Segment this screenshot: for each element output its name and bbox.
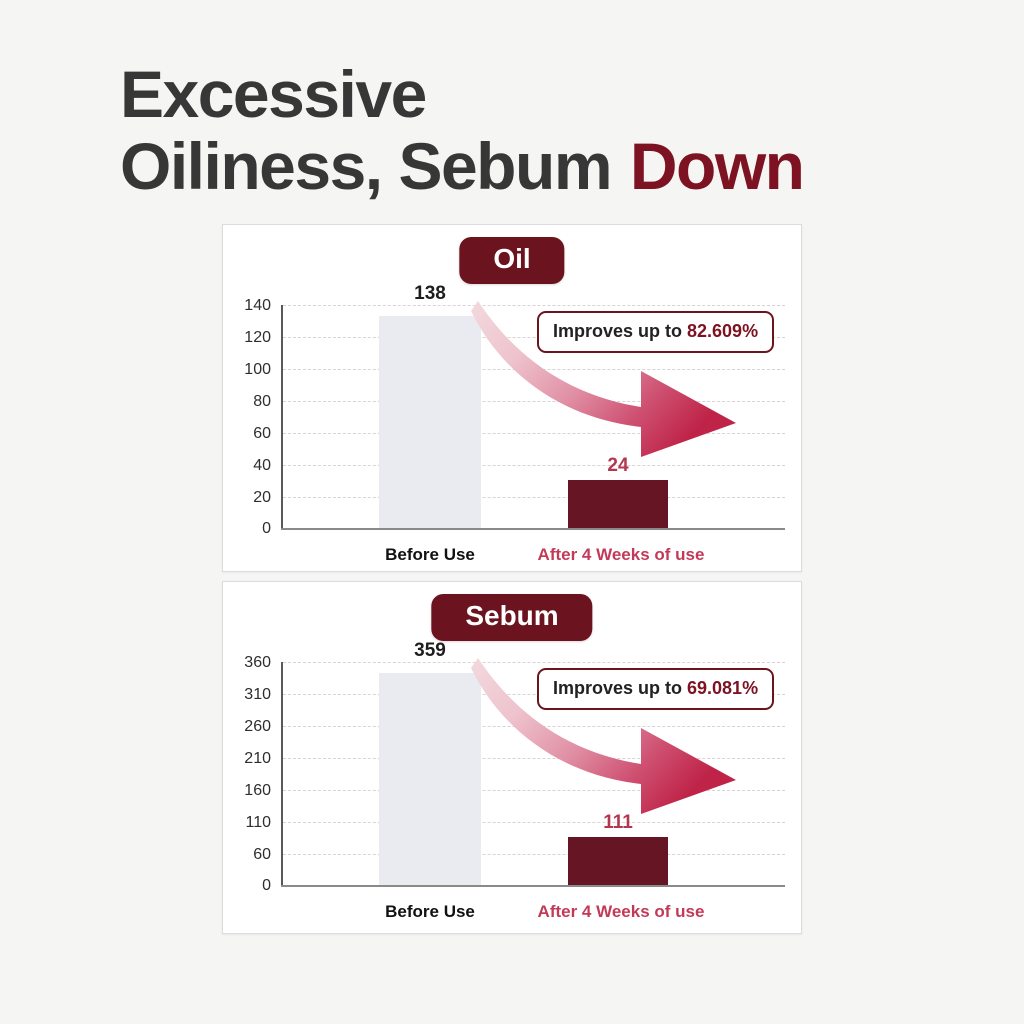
chart-card-oil: Oil 140 120 100 80 60 40 20 0 138 24 [222, 224, 802, 572]
bar-before-use [379, 673, 481, 885]
y-tick-label: 100 [244, 361, 271, 379]
page-title: Excessive Oiliness, Sebum Down [120, 58, 960, 202]
chart-badge-oil: Oil [459, 237, 564, 284]
callout-prefix: Improves up to [553, 678, 687, 698]
y-tick-label: 110 [245, 814, 271, 832]
y-tick-label: 0 [262, 877, 271, 895]
y-tick-label: 20 [253, 489, 271, 507]
improvement-callout-sebum: Improves up to 69.081% [537, 668, 774, 710]
page-title-line-2-plain: Oiliness, Sebum [120, 129, 628, 203]
bar-value-after: 111 [603, 812, 633, 834]
y-tick-label: 140 [244, 297, 271, 315]
infographic-page: Excessive Oiliness, Sebum Down Oil 140 1… [0, 0, 1024, 1024]
x-axis-line [281, 885, 785, 887]
x-label-before-use: Before Use [385, 545, 475, 565]
gridline: 110 [283, 822, 785, 823]
gridline: 40 [283, 465, 785, 466]
bar-after-use [568, 480, 668, 528]
callout-percent: 82.609% [687, 321, 758, 341]
y-tick-label: 40 [253, 457, 271, 475]
y-tick-label: 310 [244, 686, 271, 704]
gridline: 260 [283, 726, 785, 727]
y-tick-label: 60 [253, 425, 271, 443]
bar-before-use [379, 316, 481, 528]
gridline: 100 [283, 369, 785, 370]
gridline: 360 [283, 662, 785, 663]
x-label-before-use: Before Use [385, 902, 475, 922]
y-tick-label: 0 [262, 520, 271, 538]
y-tick-label: 260 [244, 718, 271, 736]
gridline: 60 [283, 854, 785, 855]
page-title-line-1: Excessive [120, 58, 960, 130]
gridline: 60 [283, 433, 785, 434]
gridline: 20 [283, 497, 785, 498]
x-label-after-use: After 4 Weeks of use [538, 902, 705, 922]
y-tick-label: 80 [253, 393, 271, 411]
bar-after-use [568, 837, 668, 885]
improvement-callout-oil: Improves up to 82.609% [537, 311, 774, 353]
page-title-accent-word: Down [628, 130, 806, 202]
y-tick-label: 120 [244, 329, 271, 347]
gridline: 140 [283, 305, 785, 306]
callout-percent: 69.081% [687, 678, 758, 698]
chart-card-sebum: Sebum 360 310 260 210 160 110 60 0 359 1… [222, 581, 802, 934]
gridline: 80 [283, 401, 785, 402]
x-label-after-use: After 4 Weeks of use [538, 545, 705, 565]
callout-prefix: Improves up to [553, 321, 687, 341]
gridline: 210 [283, 758, 785, 759]
y-tick-label: 60 [253, 846, 271, 864]
y-tick-label: 210 [244, 750, 271, 768]
page-title-line-2: Oiliness, Sebum Down [120, 130, 960, 202]
x-axis-line [281, 528, 785, 530]
chart-badge-sebum: Sebum [431, 594, 592, 641]
y-tick-label: 160 [244, 782, 271, 800]
bar-value-before: 138 [414, 283, 446, 305]
bar-value-before: 359 [414, 640, 446, 662]
gridline: 160 [283, 790, 785, 791]
bar-value-after: 24 [607, 455, 628, 477]
y-tick-label: 360 [244, 654, 271, 672]
